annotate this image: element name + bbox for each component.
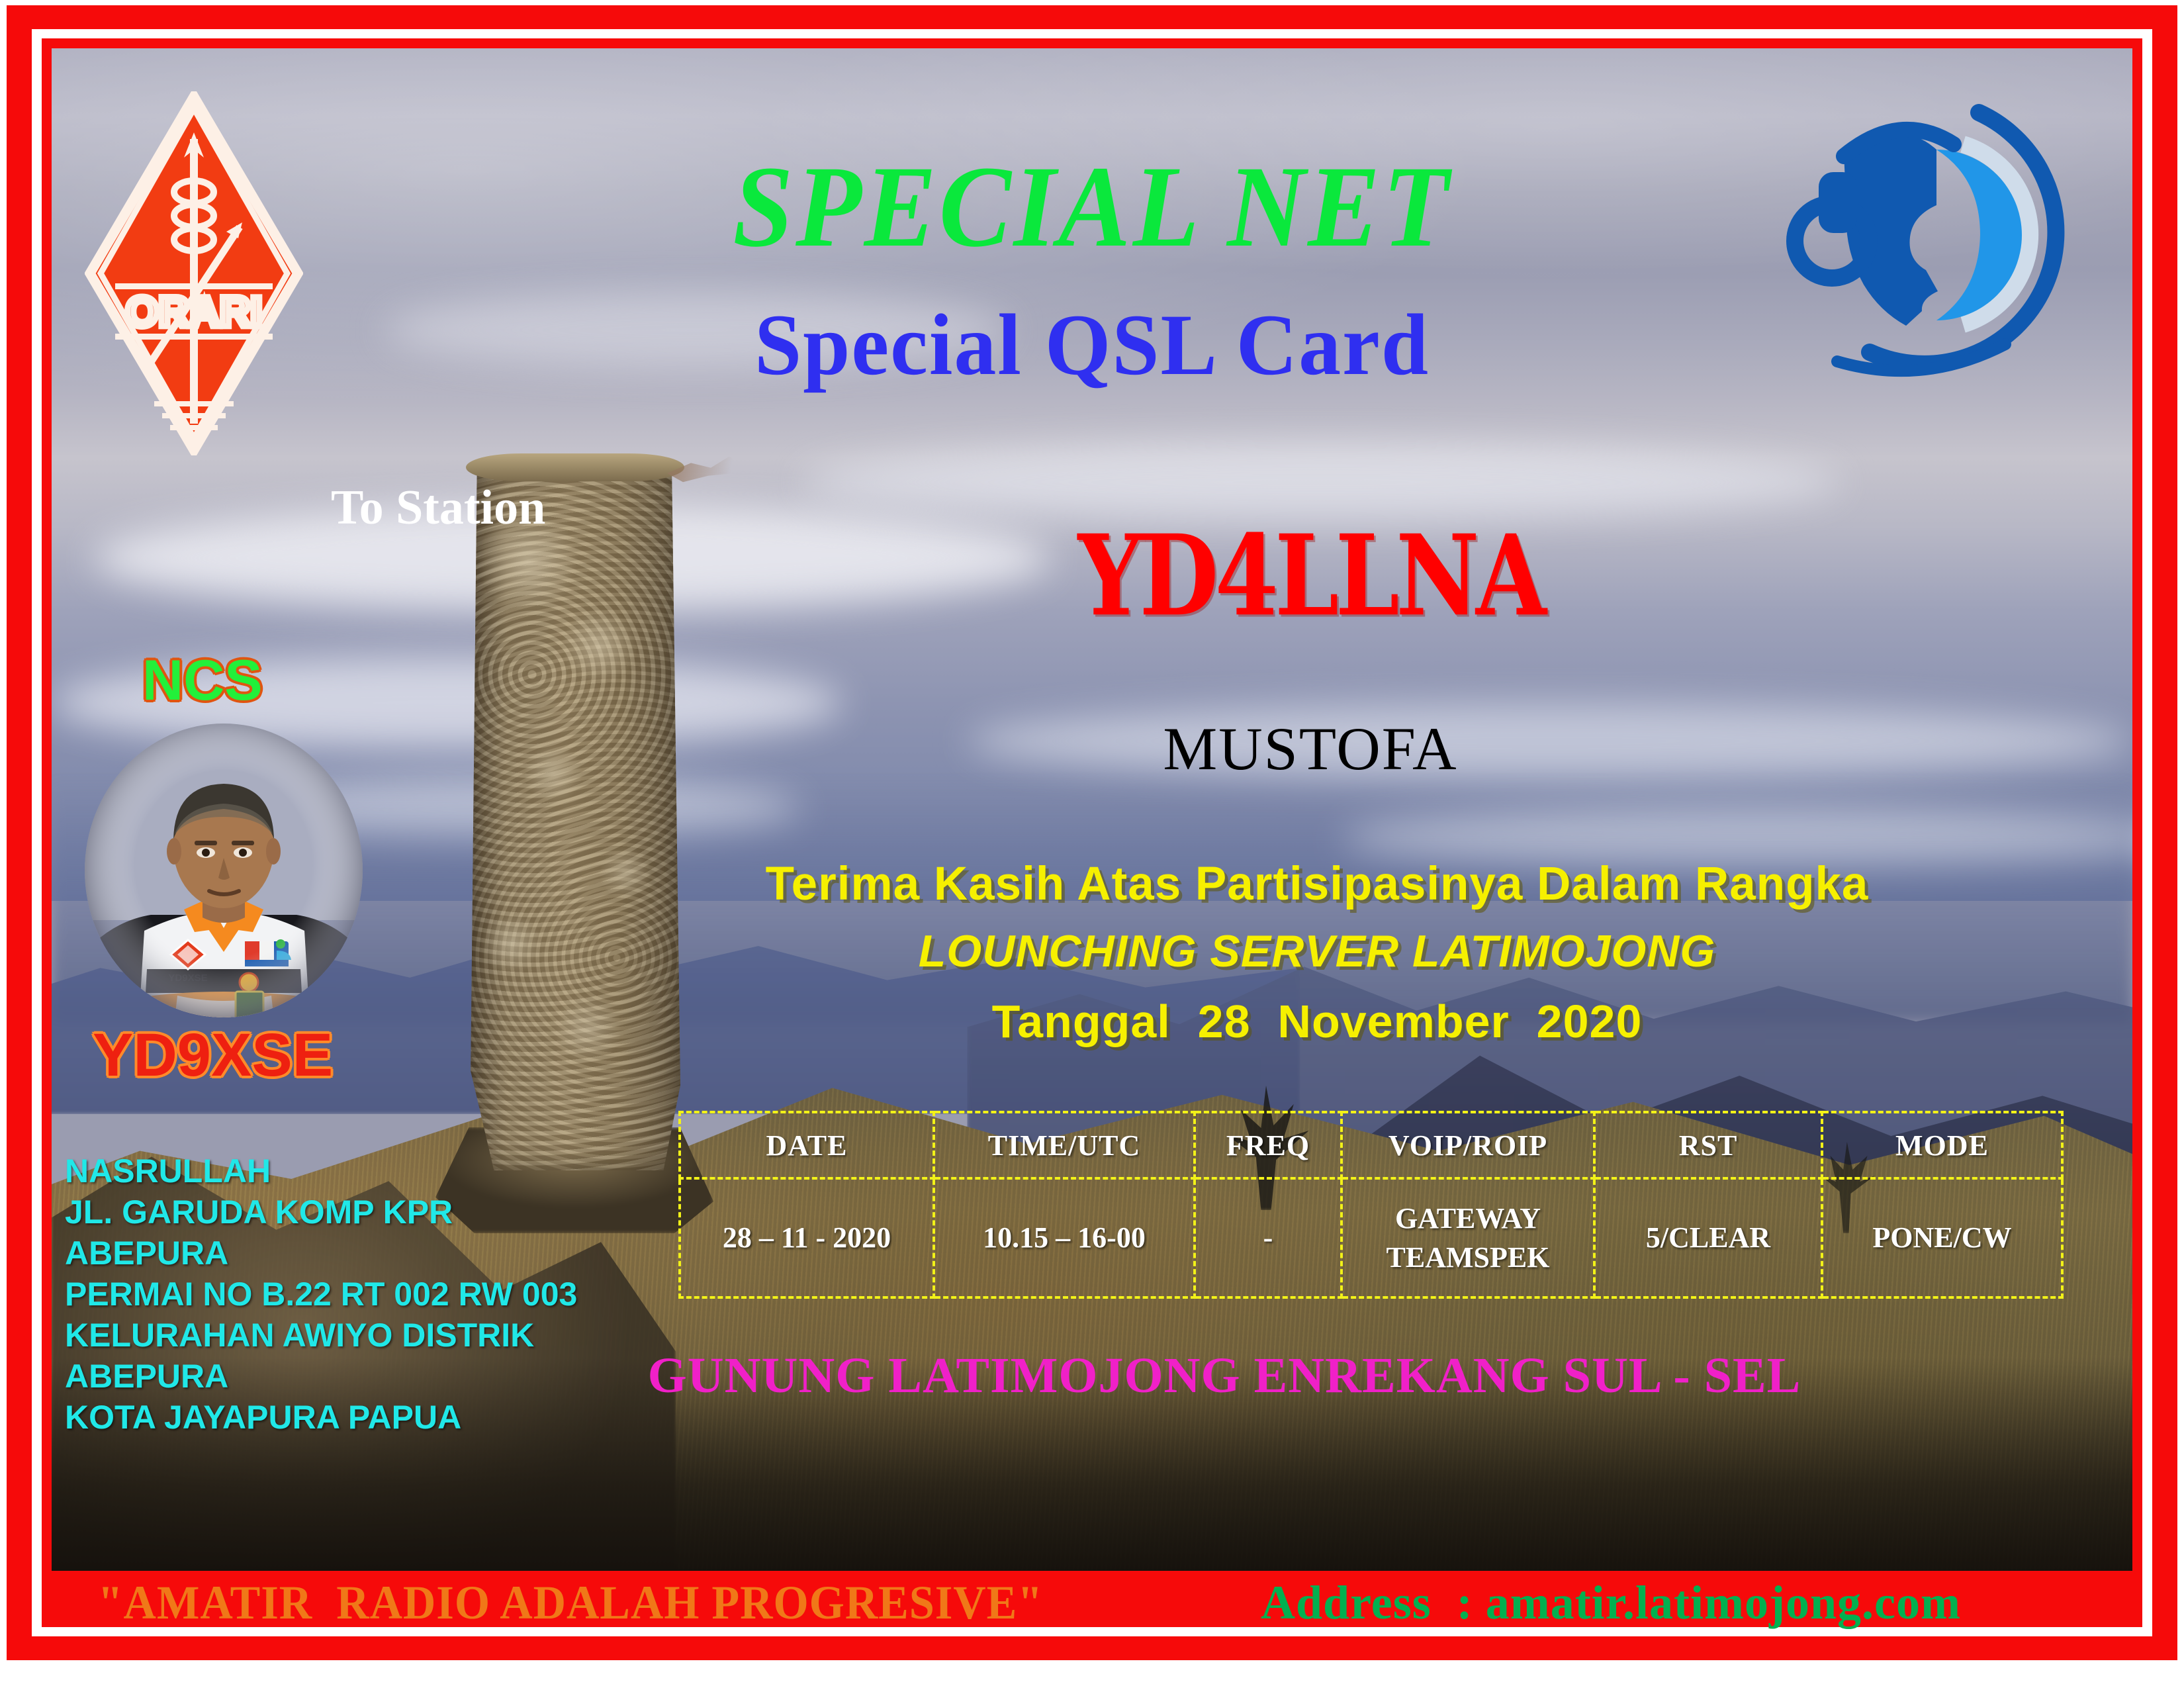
footer-slogan: "AMATIR RADIO ADALAH PROGRESIVE" <box>98 1579 1044 1626</box>
table-header-mode: MODE <box>1822 1112 2062 1178</box>
page-subtitle-qsl-card: Special QSL Card <box>33 301 2152 389</box>
ncs-operator-portrait: YD9XSE <box>78 722 369 1019</box>
table-cell-date: 28 – 11 - 2020 <box>680 1178 934 1297</box>
to-station-label: To Station <box>331 483 545 532</box>
address-line: ABEPURA <box>65 1356 687 1397</box>
table-header-time: TIME/UTC <box>934 1112 1195 1178</box>
table-cell-mode: PONE/CW <box>1822 1178 2062 1297</box>
ncs-address-block: NASRULLAH JL. GARUDA KOMP KPR ABEPURA PE… <box>65 1150 687 1438</box>
table-cell-freq: - <box>1195 1178 1342 1297</box>
stone-summit-pillar <box>469 462 680 1170</box>
recipient-callsign: YD4LLNA <box>945 520 1676 632</box>
table-cell-voip: GATEWAY TEAMSPEK <box>1342 1178 1594 1297</box>
table-header-rst: RST <box>1594 1112 1822 1178</box>
address-line: PERMAI NO B.22 RT 002 RW 003 <box>65 1274 687 1315</box>
ncs-label: NCS <box>142 652 263 709</box>
orari-diamond-icon: ORARI <box>85 91 303 455</box>
page-title-special-net: SPECIAL NET <box>77 149 2108 265</box>
address-line: ABEPURA <box>65 1233 687 1274</box>
table-cell-rst: 5/CLEAR <box>1594 1178 1822 1297</box>
recipient-operator-name: MUSTOFA <box>913 718 1707 779</box>
orari-logo: ORARI <box>85 91 303 455</box>
table-header-voip: VOIP/ROIP <box>1342 1112 1594 1178</box>
address-line: NASRULLAH <box>65 1150 687 1192</box>
table-header-date: DATE <box>680 1112 934 1178</box>
table-header-freq: FREQ <box>1195 1112 1342 1178</box>
ncs-callsign: YD9XSE <box>93 1025 333 1086</box>
qso-log-table: DATE TIME/UTC FREQ VOIP/ROIP RST MODE 28… <box>678 1111 2064 1299</box>
address-line: KOTA JAYAPURA PAPUA <box>65 1397 687 1438</box>
thanks-line-1: Terima Kasih Atas Partisipasinya Dalam R… <box>662 861 1972 908</box>
footer-web-address: Address : amatir.latimojong.com <box>1261 1579 1961 1626</box>
table-cell-time: 10.15 – 16-00 <box>934 1178 1195 1297</box>
thanks-line-2-event: LOUNCHING SERVER LATIMOJONG <box>662 929 1972 974</box>
address-line: KELURAHAN AWIYO DISTRIK <box>65 1315 687 1356</box>
table-header-row: DATE TIME/UTC FREQ VOIP/ROIP RST MODE <box>680 1112 2062 1178</box>
thanks-line-3-date: Tanggal 28 November 2020 <box>662 998 1972 1045</box>
address-line: JL. GARUDA KOMP KPR <box>65 1192 687 1233</box>
event-location-line: GUNUNG LATIMOJONG ENREKANG SUL - SEL <box>596 1350 1853 1401</box>
pillar-cap <box>466 453 684 481</box>
table-row: 28 – 11 - 2020 10.15 – 16-00 - GATEWAY T… <box>680 1178 2062 1297</box>
portrait-photo: YD9XSE <box>78 722 369 1019</box>
qsl-card: ORARI <box>0 0 2184 1688</box>
